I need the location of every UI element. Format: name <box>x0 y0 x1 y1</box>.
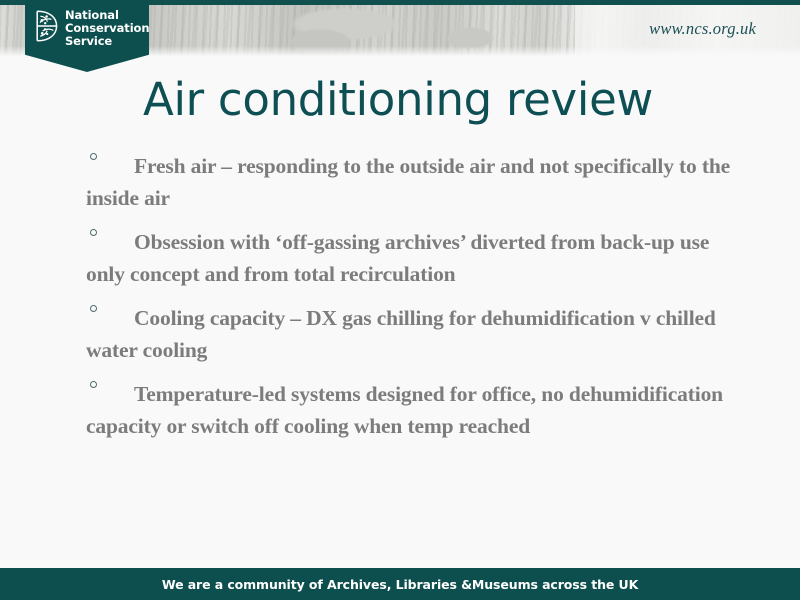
slide-title: Air conditioning review <box>143 74 653 126</box>
bullet-marker-icon <box>90 381 97 388</box>
bullet-text: Temperature-led systems designed for off… <box>86 378 746 442</box>
site-url[interactable]: www.ncs.org.uk <box>649 19 756 39</box>
logo-line-3: Service <box>65 35 149 48</box>
footer-text: We are a community of Archives, Librarie… <box>162 577 638 592</box>
bullet-item: Obsession with ‘off-gassing archives’ di… <box>86 226 746 290</box>
bullet-text: Cooling capacity – DX gas chilling for d… <box>86 302 746 366</box>
bullet-text: Fresh air – responding to the outside ai… <box>86 150 746 214</box>
presentation-slide: www.ncs.org.uk <box>0 0 800 600</box>
logo-inner: National Conservation Service <box>33 9 149 47</box>
logo-wordmark: National Conservation Service <box>65 9 149 47</box>
logo-badge[interactable]: National Conservation Service <box>25 0 149 72</box>
bullet-marker-icon <box>90 153 97 160</box>
bullet-marker-icon <box>90 229 97 236</box>
bullet-item: Cooling capacity – DX gas chilling for d… <box>86 302 746 366</box>
bullet-text: Obsession with ‘off-gassing archives’ di… <box>86 226 746 290</box>
logo-line-2: Conservation <box>65 22 149 35</box>
bullet-item: Temperature-led systems designed for off… <box>86 378 746 442</box>
logo-line-1: National <box>65 9 149 22</box>
footer-bar: We are a community of Archives, Librarie… <box>0 568 800 600</box>
bullet-list: Fresh air – responding to the outside ai… <box>86 150 746 454</box>
leaf-circle-emblem-icon <box>33 9 59 43</box>
bullet-item: Fresh air – responding to the outside ai… <box>86 150 746 214</box>
bullet-marker-icon <box>90 305 97 312</box>
